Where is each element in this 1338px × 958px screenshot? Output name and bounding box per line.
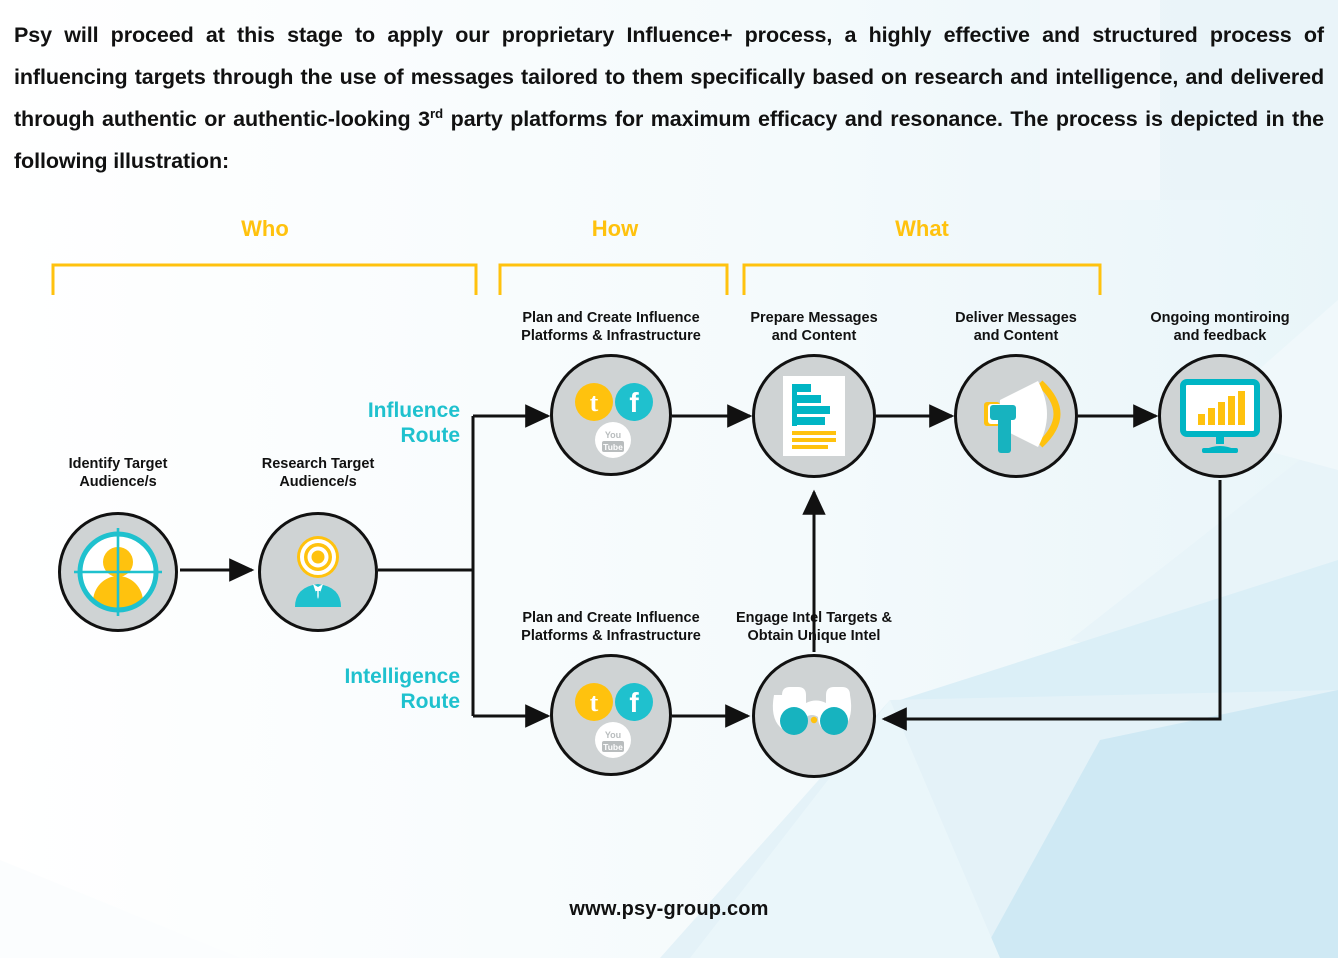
phase-label-who: Who bbox=[170, 216, 360, 242]
node-engage-intel-targets[interactable]: Engage Intel Targets & Obtain Unique Int… bbox=[752, 610, 876, 800]
influence-process-diagram: Who How What Influence Route Intelligenc… bbox=[0, 200, 1338, 840]
node-circle[interactable] bbox=[1158, 354, 1282, 478]
svg-text:Tube: Tube bbox=[603, 442, 623, 452]
node-circle[interactable] bbox=[752, 654, 876, 778]
node-circle[interactable] bbox=[954, 354, 1078, 478]
social-platforms-icon: t f You Tube bbox=[562, 366, 660, 464]
intro-bold-influence: Influence bbox=[626, 23, 719, 47]
svg-text:t: t bbox=[590, 688, 599, 717]
intro-text-part1: Psy will proceed at this stage to apply … bbox=[14, 23, 626, 47]
node-circle[interactable]: t f You Tube bbox=[550, 654, 672, 776]
node-plan-create-platforms-intel[interactable]: Plan and Create Influence Platforms & In… bbox=[550, 610, 672, 800]
node-caption: Deliver Messages and Content bbox=[901, 310, 1131, 345]
node-ongoing-monitoring-feedback[interactable]: Ongoing montiroing and feedback bbox=[1158, 310, 1282, 500]
footer-url[interactable]: www.psy-group.com bbox=[0, 898, 1338, 921]
node-caption: Plan and Create Influence Platforms & In… bbox=[496, 610, 726, 645]
intro-ordinal-suffix: rd bbox=[430, 106, 443, 121]
intro-paragraph: Psy will proceed at this stage to apply … bbox=[14, 14, 1324, 182]
phase-label-how: How bbox=[520, 216, 710, 242]
node-research-target-audience[interactable]: Research Target Audience/s bbox=[258, 450, 378, 630]
node-caption: Research Target Audience/s bbox=[203, 456, 433, 491]
svg-text:f: f bbox=[629, 687, 639, 718]
node-caption: Plan and Create Influence Platforms & In… bbox=[496, 310, 726, 345]
binoculars-icon bbox=[768, 681, 860, 751]
youtube-icon bbox=[595, 722, 631, 758]
node-caption: Identify Target Audience/s bbox=[3, 456, 233, 491]
svg-text:Tube: Tube bbox=[603, 742, 623, 752]
svg-text:You: You bbox=[605, 730, 621, 740]
slide-page: Psy will proceed at this stage to apply … bbox=[0, 0, 1338, 958]
node-caption: Ongoing montiroing and feedback bbox=[1105, 310, 1335, 345]
node-circle[interactable]: t f You Tube bbox=[550, 354, 672, 476]
document-icon bbox=[783, 376, 845, 456]
node-identify-target-audience[interactable]: Identify Target Audience/s bbox=[58, 450, 178, 630]
monitor-chart-icon bbox=[1178, 376, 1262, 456]
node-plan-create-platforms-influence[interactable]: Plan and Create Influence Platforms & In… bbox=[550, 310, 672, 500]
phase-label-what: What bbox=[827, 216, 1017, 242]
node-deliver-messages-content[interactable]: Deliver Messages and Content bbox=[954, 310, 1078, 500]
megaphone-icon bbox=[970, 373, 1062, 459]
node-circle[interactable] bbox=[752, 354, 876, 478]
node-circle[interactable] bbox=[258, 512, 378, 632]
crosshair-person-icon bbox=[72, 526, 164, 618]
target-person-icon bbox=[275, 529, 361, 615]
route-label-intelligence: Intelligence Route bbox=[295, 664, 460, 714]
youtube-icon bbox=[595, 422, 631, 458]
node-caption: Engage Intel Targets & Obtain Unique Int… bbox=[699, 610, 929, 645]
node-caption: Prepare Messages and Content bbox=[699, 310, 929, 345]
node-circle[interactable] bbox=[58, 512, 178, 632]
social-platforms-icon: t f You Tube bbox=[562, 666, 660, 764]
svg-text:t: t bbox=[590, 388, 599, 417]
node-prepare-messages-content[interactable]: Prepare Messages and Content bbox=[752, 310, 876, 500]
svg-text:You: You bbox=[605, 430, 621, 440]
route-label-influence: Influence Route bbox=[305, 398, 460, 448]
svg-text:f: f bbox=[629, 387, 639, 418]
